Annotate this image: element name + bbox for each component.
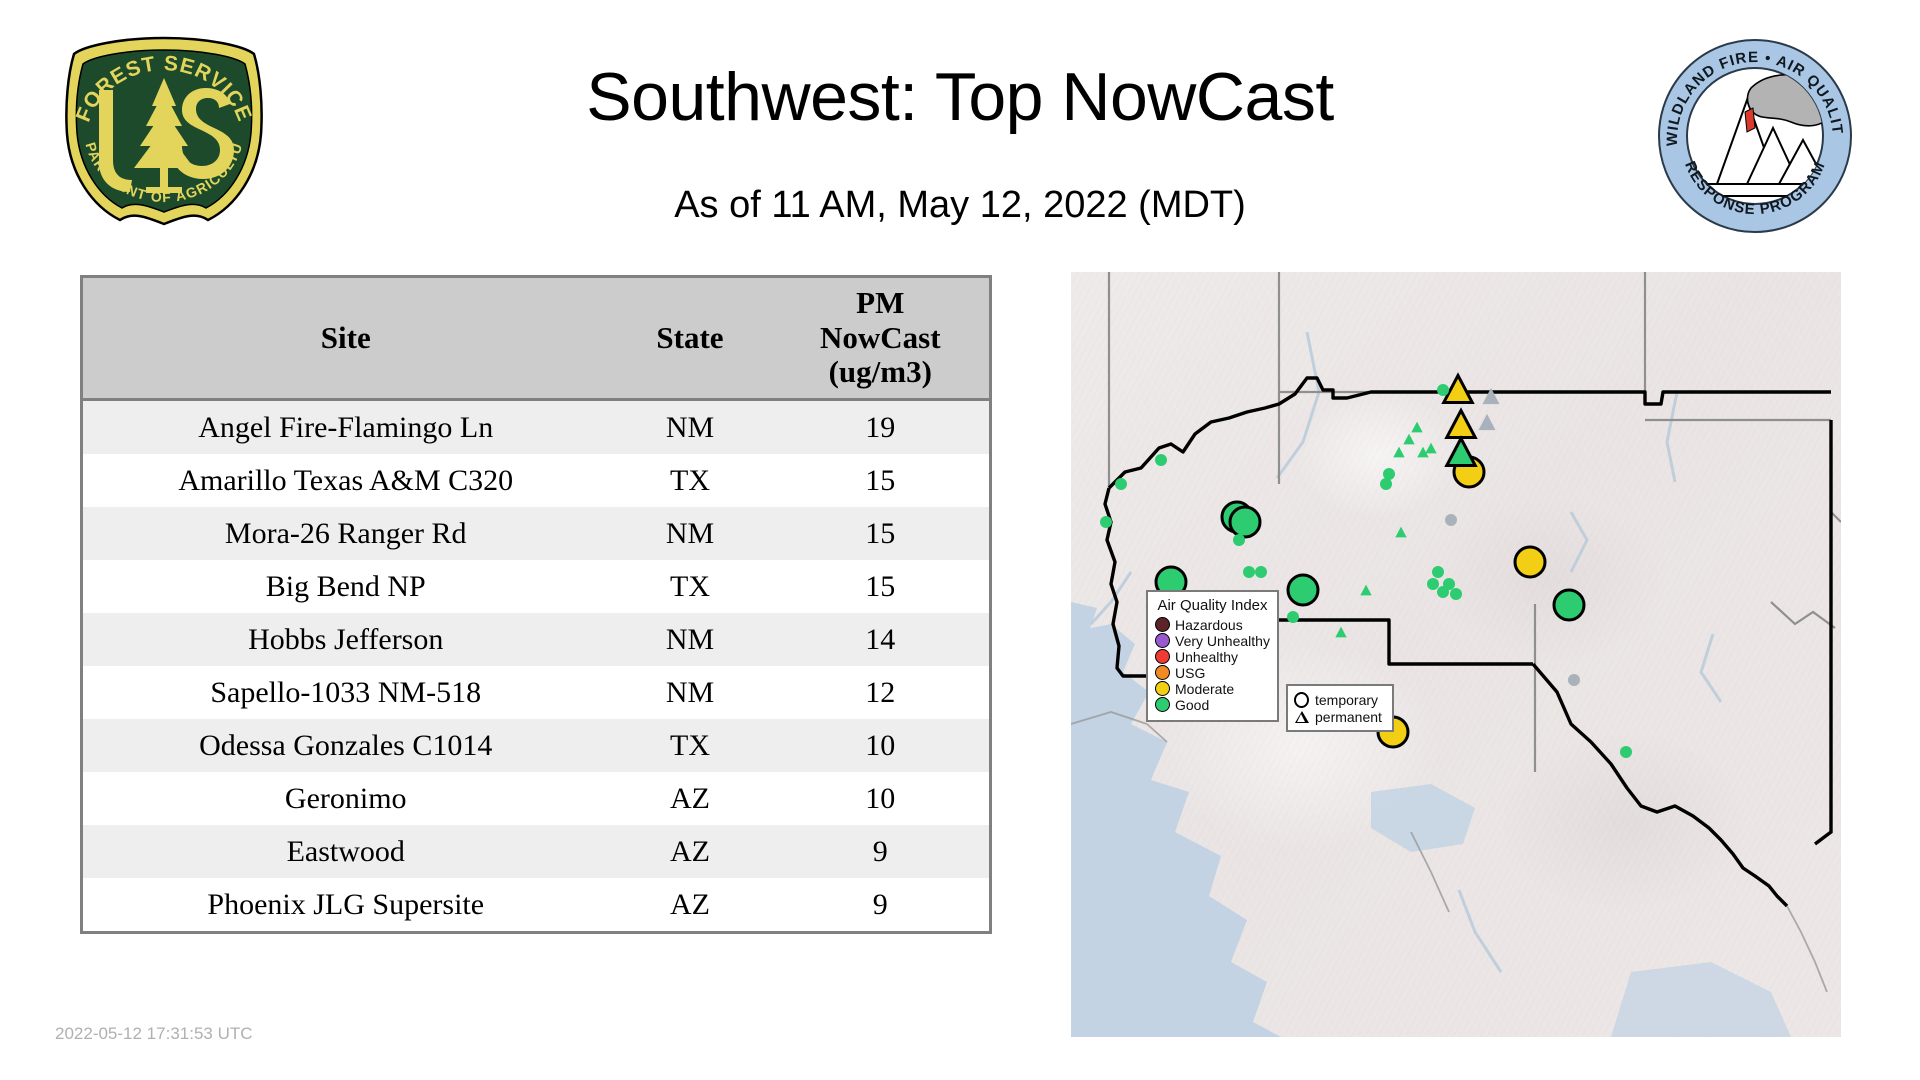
cell-state: AZ: [608, 772, 771, 825]
monitor-marker-triangle-good[interactable]: [1360, 585, 1371, 596]
monitor-marker-circle-good[interactable]: [1437, 586, 1449, 598]
aqi-legend-row: Unhealthy: [1155, 649, 1270, 664]
cell-state: TX: [608, 560, 771, 613]
monitor-marker-triangle-good[interactable]: [1393, 447, 1404, 458]
monitor-marker-circle-good[interactable]: [1554, 590, 1584, 620]
aqi-swatch-icon: [1155, 681, 1170, 696]
cell-pm: 9: [772, 825, 989, 878]
pm-header-line3: (ug/m3): [829, 354, 932, 389]
aqi-legend-title: Air Quality Index: [1155, 597, 1270, 614]
aqi-swatch-icon: [1155, 633, 1170, 648]
aqi-legend-label: Very Unhealthy: [1175, 634, 1270, 648]
table-row[interactable]: EastwoodAZ9: [83, 825, 989, 878]
aqi-swatch-icon: [1155, 617, 1170, 632]
monitor-marker-triangle-good[interactable]: [1425, 443, 1436, 454]
monitor-marker-circle-good[interactable]: [1243, 566, 1255, 578]
cell-pm: 9: [772, 878, 989, 931]
aqi-legend-row: Moderate: [1155, 681, 1270, 696]
aqi-legend-label: Unhealthy: [1175, 650, 1238, 664]
monitor-marker-circle-good[interactable]: [1233, 534, 1245, 546]
monitor-marker-circle-good[interactable]: [1450, 588, 1462, 600]
air-quality-map[interactable]: Air Quality Index HazardousVery Unhealth…: [1071, 272, 1841, 1037]
legend-label-temporary: temporary: [1315, 693, 1378, 707]
monitor-marker-triangle-moderate[interactable]: [1447, 411, 1476, 438]
table-row[interactable]: Angel Fire-Flamingo LnNM19: [83, 400, 989, 455]
monitor-marker-circle-good[interactable]: [1100, 516, 1112, 528]
cell-state: NM: [608, 666, 771, 719]
aqi-legend-row: Very Unhealthy: [1155, 633, 1270, 648]
table-row[interactable]: Phoenix JLG SupersiteAZ9: [83, 878, 989, 931]
table-header-row: Site State PM NowCast (ug/m3): [83, 278, 989, 400]
legend-label-permanent: permanent: [1315, 710, 1382, 724]
permanent-triangle-icon: [1294, 709, 1309, 724]
cell-pm: 10: [772, 719, 989, 772]
cell-site: Angel Fire-Flamingo Ln: [83, 400, 608, 455]
cell-state: TX: [608, 719, 771, 772]
monitor-marker-circle-good[interactable]: [1620, 746, 1632, 758]
wfaqrp-logo: WILDLAND FIRE • AIR QUALITY RESPONSE PRO…: [1655, 36, 1855, 236]
monitor-marker-circle-good[interactable]: [1287, 611, 1299, 623]
cell-site: Amarillo Texas A&M C320: [83, 454, 608, 507]
table-row[interactable]: Amarillo Texas A&M C320TX15: [83, 454, 989, 507]
aqi-legend-row: Hazardous: [1155, 617, 1270, 632]
cell-pm: 15: [772, 560, 989, 613]
cell-site: Odessa Gonzales C1014: [83, 719, 608, 772]
cell-site: Geronimo: [83, 772, 608, 825]
cell-state: AZ: [608, 878, 771, 931]
pm-header-line1: PM: [856, 285, 904, 320]
monitor-marker-circle-moderate[interactable]: [1515, 547, 1545, 577]
table-row[interactable]: Sapello-1033 NM-518NM12: [83, 666, 989, 719]
cell-site: Big Bend NP: [83, 560, 608, 613]
table-row[interactable]: Hobbs JeffersonNM14: [83, 613, 989, 666]
table-row[interactable]: Mora-26 Ranger RdNM15: [83, 507, 989, 560]
cell-state: TX: [608, 454, 771, 507]
generated-timestamp: 2022-05-12 17:31:53 UTC: [55, 1024, 253, 1044]
monitor-marker-circle-no-data[interactable]: [1445, 514, 1457, 526]
aqi-legend-label: Good: [1175, 698, 1209, 712]
column-header-pm-nowcast: PM NowCast (ug/m3): [772, 278, 989, 400]
monitor-marker-circle-good[interactable]: [1155, 454, 1167, 466]
column-header-state: State: [608, 278, 771, 400]
aqi-legend-row: Good: [1155, 697, 1270, 712]
legend-row-temporary: temporary: [1294, 692, 1386, 707]
top-nowcast-table: Site State PM NowCast (ug/m3) Angel Fire…: [80, 275, 992, 934]
aqi-legend-label: Moderate: [1175, 682, 1234, 696]
monitor-marker-circle-good[interactable]: [1288, 575, 1318, 605]
table-row[interactable]: GeronimoAZ10: [83, 772, 989, 825]
monitor-marker-triangle-no-data[interactable]: [1478, 414, 1495, 430]
cell-site: Sapello-1033 NM-518: [83, 666, 608, 719]
monitor-marker-circle-good[interactable]: [1230, 507, 1260, 537]
monitor-type-legend: temporary permanent: [1286, 684, 1394, 732]
slide-canvas: FOREST SERVICE DEPARTMENT OF AGRICULTURE…: [0, 0, 1920, 1080]
monitor-marker-triangle-good[interactable]: [1395, 527, 1406, 538]
water-gulf-of-mexico: [1611, 962, 1791, 1037]
page-title: Southwest: Top NowCast: [300, 58, 1620, 136]
cell-site: Phoenix JLG Supersite: [83, 878, 608, 931]
cell-site: Mora-26 Ranger Rd: [83, 507, 608, 560]
monitor-marker-circle-good[interactable]: [1115, 478, 1127, 490]
cell-pm: 12: [772, 666, 989, 719]
table-row[interactable]: Big Bend NPTX15: [83, 560, 989, 613]
temporary-circle-icon: [1294, 692, 1309, 707]
monitor-marker-circle-good[interactable]: [1255, 566, 1267, 578]
cell-state: NM: [608, 613, 771, 666]
monitor-marker-triangle-good[interactable]: [1403, 434, 1414, 445]
cell-pm: 19: [772, 400, 989, 455]
column-header-site: Site: [83, 278, 608, 400]
aqi-legend-label: Hazardous: [1175, 618, 1243, 632]
monitor-marker-circle-no-data[interactable]: [1568, 674, 1580, 686]
cell-site: Eastwood: [83, 825, 608, 878]
cell-site: Hobbs Jefferson: [83, 613, 608, 666]
monitor-marker-triangle-good[interactable]: [1335, 627, 1346, 638]
page-subtitle: As of 11 AM, May 12, 2022 (MDT): [300, 184, 1620, 227]
pm-header-line2: NowCast: [820, 320, 941, 355]
cell-state: NM: [608, 400, 771, 455]
table-row[interactable]: Odessa Gonzales C1014TX10: [83, 719, 989, 772]
aqi-swatch-icon: [1155, 649, 1170, 664]
cell-state: NM: [608, 507, 771, 560]
cell-pm: 15: [772, 454, 989, 507]
aqi-legend-label: USG: [1175, 666, 1205, 680]
monitor-marker-circle-good[interactable]: [1437, 384, 1449, 396]
water-inland: [1371, 784, 1475, 852]
aqi-legend: Air Quality Index HazardousVery Unhealth…: [1146, 590, 1279, 722]
monitor-marker-circle-good[interactable]: [1427, 578, 1439, 590]
legend-row-permanent: permanent: [1294, 709, 1386, 724]
cell-pm: 10: [772, 772, 989, 825]
state-outline-texas-east: [1815, 420, 1831, 844]
cell-state: AZ: [608, 825, 771, 878]
aqi-legend-row: USG: [1155, 665, 1270, 680]
cell-pm: 15: [772, 507, 989, 560]
monitor-marker-triangle-good[interactable]: [1447, 439, 1476, 466]
monitor-marker-circle-good[interactable]: [1432, 566, 1444, 578]
cell-pm: 14: [772, 613, 989, 666]
monitor-marker-circle-good[interactable]: [1380, 478, 1392, 490]
monitor-marker-triangle-good[interactable]: [1411, 422, 1422, 433]
aqi-swatch-icon: [1155, 697, 1170, 712]
us-forest-service-shield-logo: FOREST SERVICE DEPARTMENT OF AGRICULTURE: [58, 34, 270, 230]
aqi-swatch-icon: [1155, 665, 1170, 680]
